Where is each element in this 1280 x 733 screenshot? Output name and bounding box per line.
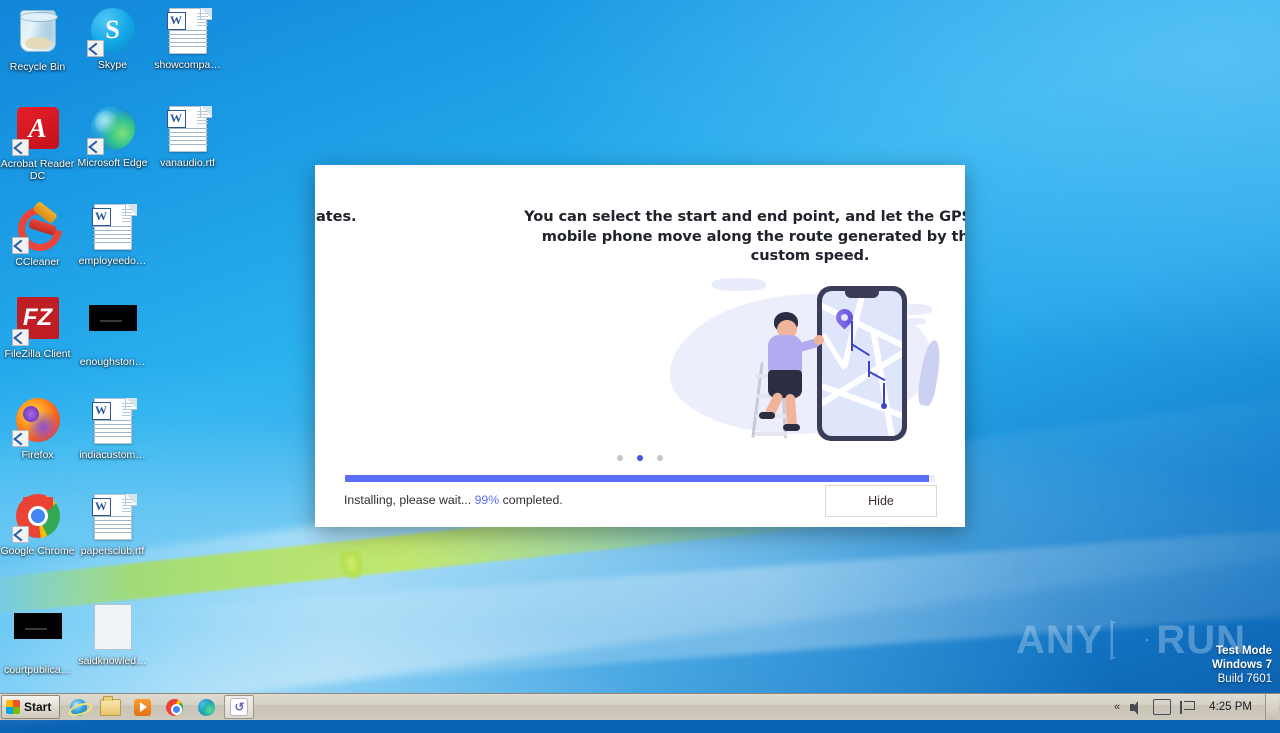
- illustration-person: [756, 312, 818, 434]
- windows-media-player-icon: [134, 699, 151, 716]
- recycle-bin-icon: [14, 10, 62, 58]
- shortcut-overlay-icon: [12, 526, 29, 543]
- taskbar-clock[interactable]: 4:25 PM: [1205, 701, 1256, 713]
- illustration-cloud: [904, 318, 926, 325]
- word-document-icon: W: [89, 398, 137, 446]
- illustration-smartphone: [817, 286, 907, 441]
- carousel-dot-2-active[interactable]: [637, 455, 643, 461]
- blank-document-icon: [89, 604, 137, 652]
- start-button-label: Start: [24, 700, 51, 714]
- ccleaner-icon: [14, 205, 62, 253]
- installer-app-icon: ↺: [230, 698, 248, 716]
- start-button[interactable]: Start: [1, 695, 60, 719]
- shortcut-overlay-icon: [12, 329, 29, 346]
- taskbar-installer-app[interactable]: ↺: [224, 695, 254, 719]
- desktop-icon-papersclub-rtf[interactable]: W papersclub.rtf: [75, 492, 150, 557]
- volume-icon[interactable]: [1129, 700, 1144, 715]
- desktop-icon-indiacustom[interactable]: W indiacustom…: [75, 396, 150, 461]
- desktop-icon-label: Acrobat Reader DC: [0, 158, 75, 182]
- gps-route-phone-illustration: [660, 276, 960, 451]
- desktop-icon-label: Recycle Bin: [0, 61, 75, 73]
- show-desktop-button[interactable]: [1265, 694, 1278, 720]
- carousel-dot-3[interactable]: [657, 455, 663, 461]
- desktop-icon-label: Microsoft Edge: [75, 157, 150, 169]
- slide-current-text: You can select the start and end point, …: [510, 207, 965, 266]
- shortcut-overlay-icon: [12, 237, 29, 254]
- taskbar-google-chrome[interactable]: [160, 696, 188, 718]
- desktop-icon-skype[interactable]: S Skype: [75, 6, 150, 71]
- carousel-dot-1[interactable]: [617, 455, 623, 461]
- desktop-icon-vanaudio-rtf[interactable]: W vanaudio.rtf: [150, 104, 225, 169]
- word-document-icon: W: [89, 204, 137, 252]
- desktop-icon-label: Firefox: [0, 449, 75, 461]
- desktop-icon-acrobat-reader[interactable]: A Acrobat Reader DC: [0, 104, 75, 182]
- progress-bar: [345, 475, 935, 482]
- desktop-icon-enoughston[interactable]: enoughston…: [75, 294, 150, 368]
- black-thumbnail-icon: [89, 305, 137, 353]
- filezilla-icon: FZ: [14, 297, 62, 345]
- status-prefix: Installing, please wait...: [344, 493, 475, 507]
- desktop-icon-employeedo[interactable]: W employeedo…: [75, 202, 150, 267]
- desktop-icon-label: employeedo…: [75, 255, 150, 267]
- desktop-icon-label: saidknowled…: [75, 655, 150, 667]
- desktop-icon-label: FileZilla Client: [0, 348, 75, 360]
- shortcut-overlay-icon: [12, 430, 29, 447]
- microsoft-edge-icon: [89, 106, 137, 154]
- desktop-icon-saidknowled[interactable]: saidknowled…: [75, 602, 150, 667]
- test-mode-line3: Build 7601: [1072, 672, 1272, 686]
- action-center-flag-icon[interactable]: [1180, 701, 1196, 714]
- test-mode-line2: Windows 7: [1072, 658, 1272, 672]
- taskbar-windows-media-player[interactable]: [128, 696, 156, 718]
- carousel-slide-current: You can select the start and end point, …: [485, 165, 965, 465]
- taskbar-internet-explorer[interactable]: [64, 696, 92, 718]
- network-icon[interactable]: [1153, 699, 1171, 715]
- desktop-icon-showcompa[interactable]: W showcompa…: [150, 6, 225, 71]
- system-tray: « 4:25 PM: [1114, 694, 1280, 720]
- desktop-icon-ccleaner[interactable]: CCleaner: [0, 202, 75, 268]
- install-status-text: Installing, please wait... 99% completed…: [344, 493, 563, 507]
- installer-dialog[interactable]: ordinates. You can select the start and …: [315, 165, 965, 527]
- status-suffix: completed.: [499, 493, 563, 507]
- shortcut-overlay-icon: [87, 138, 104, 155]
- word-document-icon: W: [164, 8, 212, 56]
- illustration-cloud: [712, 278, 766, 291]
- show-hidden-icons-icon[interactable]: «: [1114, 701, 1120, 713]
- desktop-icon-label: indiacustom…: [75, 449, 150, 461]
- slide-carousel: ordinates. You can select the start and …: [315, 165, 965, 465]
- acrobat-reader-icon: A: [14, 107, 62, 155]
- firefox-icon: [14, 398, 62, 446]
- shortcut-overlay-icon: [87, 40, 104, 57]
- windows-logo-icon: [6, 700, 20, 714]
- microsoft-edge-icon: [198, 699, 215, 716]
- desktop-icon-google-chrome[interactable]: Google Chrome: [0, 492, 75, 557]
- progress-track: [345, 475, 935, 482]
- taskbar: Start ↺ « 4:25 PM: [0, 693, 1280, 720]
- desktop-icon-label: papersclub.rtf: [75, 545, 150, 557]
- desktop-icon-label: showcompa…: [150, 59, 225, 71]
- desktop-icon-microsoft-edge[interactable]: Microsoft Edge: [75, 104, 150, 169]
- word-document-icon: W: [89, 494, 137, 542]
- desktop-icon-label: CCleaner: [0, 256, 75, 268]
- status-percent: 99%: [475, 493, 500, 507]
- skype-icon: S: [89, 8, 137, 56]
- progress-fill: [345, 475, 929, 482]
- internet-explorer-icon: [70, 699, 87, 716]
- desktop-icon-label: enoughston…: [75, 356, 150, 368]
- desktop-icon-grid: Recycle Bin S Skype W showcompa… A Acrob…: [0, 0, 230, 690]
- desktop-icon-courtpublica[interactable]: courtpublica…: [0, 602, 75, 676]
- word-document-icon: W: [164, 106, 212, 154]
- desktop-icon-label: courtpublica…: [0, 664, 75, 676]
- carousel-indicator-dots[interactable]: [315, 448, 965, 466]
- google-chrome-icon: [14, 494, 62, 542]
- taskbar-microsoft-edge[interactable]: [192, 696, 220, 718]
- desktop-icon-filezilla[interactable]: FZ FileZilla Client: [0, 294, 75, 360]
- desktop-icon-firefox[interactable]: Firefox: [0, 396, 75, 461]
- google-chrome-icon: [166, 699, 183, 716]
- desktop-icon-label: vanaudio.rtf: [150, 157, 225, 169]
- desktop-icon-label: Google Chrome: [0, 545, 75, 557]
- taskbar-windows-explorer[interactable]: [96, 696, 124, 718]
- hide-button[interactable]: Hide: [825, 485, 937, 517]
- windows-explorer-icon: [100, 699, 121, 716]
- test-mode-line1: Test Mode: [1072, 644, 1272, 658]
- test-mode-watermark: Test Mode Windows 7 Build 7601: [1072, 644, 1272, 686]
- black-thumbnail-icon: [14, 613, 62, 661]
- desktop-icon-recycle-bin[interactable]: Recycle Bin: [0, 6, 75, 73]
- shortcut-overlay-icon: [12, 139, 29, 156]
- desktop-icon-label: Skype: [75, 59, 150, 71]
